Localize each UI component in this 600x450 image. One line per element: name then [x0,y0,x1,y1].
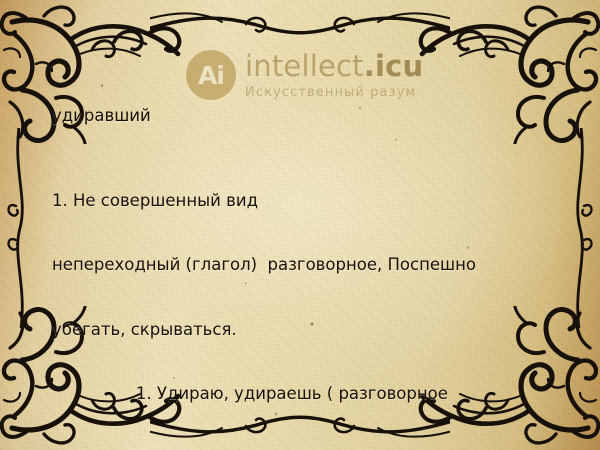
edge-flourish-left [0,128,42,328]
entry-line-1: неперeходный (глагол) разговорное, Поспе… [52,254,552,276]
entry-line-3: 1. Удираю, удираешь ( разговорное [52,383,552,405]
entry-line-0: 1. Не совершенный вид [52,190,552,212]
dictionary-entry: удиравший 1. Не совершенный вид неперeхо… [52,62,552,450]
entry-line-2: убегать, скрываться. [52,319,552,341]
headword: удиравший [52,105,552,127]
edge-flourish-right [558,128,600,328]
parchment-page: Ai intellect.icu Искусственный разум уди… [0,0,600,450]
edge-flourish-top [150,0,450,52]
